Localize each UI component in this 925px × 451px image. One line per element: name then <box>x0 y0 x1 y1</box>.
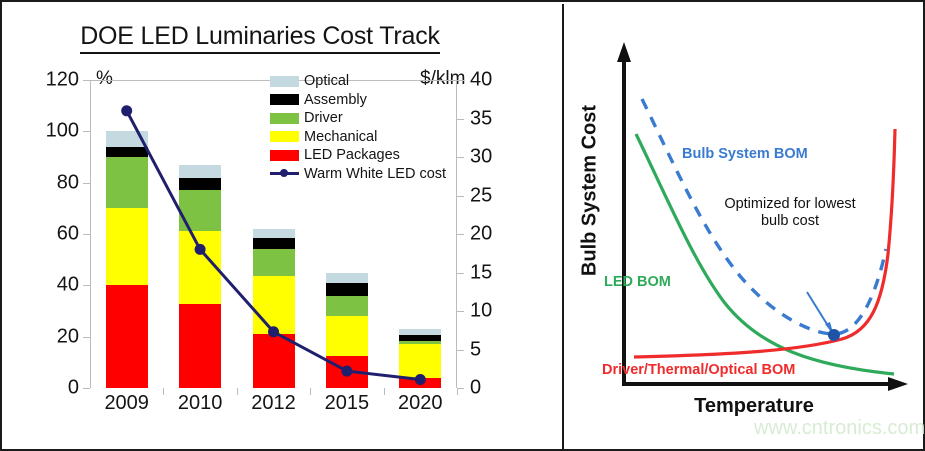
annotation-optimized-lowest-bulb-cost: Optimized for lowest bulb cost <box>710 196 870 230</box>
y-tick-right <box>457 196 464 197</box>
stacked-bar-2012 <box>253 229 295 388</box>
y-tick-left <box>83 388 90 389</box>
legend-label: Optical <box>304 73 349 89</box>
stacked-bar-2015 <box>326 273 368 389</box>
y-tick-left <box>83 80 90 81</box>
bar-segment-assembly <box>399 335 441 340</box>
bar-segment-driver <box>179 190 221 231</box>
legend-swatch-icon <box>270 131 299 142</box>
y-tick-label-left: 80 <box>57 171 79 194</box>
y-tick-left <box>83 183 90 184</box>
y-tick-label-right: 20 <box>470 223 492 246</box>
page-title: DOE LED Luminaries Cost Track <box>50 22 470 51</box>
bar-segment-mechanical <box>326 316 368 356</box>
bar-segment-driver <box>253 249 295 276</box>
legend-label: Mechanical <box>304 129 377 145</box>
figure-root: DOE LED Luminaries Cost Track % $/klm 02… <box>0 0 925 451</box>
stacked-bar-2009 <box>106 131 148 388</box>
bar-segment-mechanical <box>253 276 295 334</box>
y-tick-right <box>457 80 464 81</box>
bar-segment-driver <box>106 157 148 208</box>
bar-segment-mechanical <box>106 208 148 285</box>
y-tick-left <box>83 131 90 132</box>
legend-swatch-icon <box>270 150 299 161</box>
bar-segment-optical <box>326 273 368 283</box>
y-tick-right <box>457 350 464 351</box>
label-led-bom: LED BOM <box>604 274 671 290</box>
curve-led-bom <box>636 134 894 374</box>
y-tick-label-left: 100 <box>46 120 79 143</box>
bar-segment-optical <box>399 329 441 335</box>
legend-swatch-icon <box>270 76 299 87</box>
bar-segment-led-packages <box>106 285 148 388</box>
legend-label: LED Packages <box>304 147 400 163</box>
y-tick-right <box>457 157 464 158</box>
stacked-bar-2010 <box>179 165 221 388</box>
legend-label: Assembly <box>304 92 367 108</box>
y-tick-label-left: 120 <box>46 69 79 92</box>
overlay-point-2009 <box>121 105 132 116</box>
y-tick-right <box>457 273 464 274</box>
bar-segment-assembly <box>179 178 221 191</box>
y-tick-left <box>83 337 90 338</box>
chart-title-text: DOE LED Luminaries Cost Track <box>80 22 440 54</box>
y-tick-label-right: 30 <box>470 146 492 169</box>
label-bulb-system-bom: Bulb System BOM <box>682 146 808 162</box>
x-tick <box>457 388 458 395</box>
right-chart-panel: Bulb System Cost Temperature Bulb <box>562 4 925 449</box>
y-tick-label-left: 20 <box>57 325 79 348</box>
watermark: www.cntronics.com <box>754 417 925 440</box>
y-tick-label-right: 40 <box>470 69 492 92</box>
y-tick-left <box>83 285 90 286</box>
x-tick <box>310 388 311 395</box>
label-driver-thermal-optical-bom: Driver/Thermal/Optical BOM <box>602 362 795 378</box>
legend-item-driver[interactable]: Driver <box>270 109 450 128</box>
x-tick-label: 2020 <box>398 392 443 415</box>
x-tick <box>163 388 164 395</box>
x-tick-label: 2010 <box>178 392 223 415</box>
bar-segment-optical <box>106 131 148 146</box>
y-axis-left <box>90 80 91 388</box>
bar-segment-led-packages <box>326 356 368 388</box>
y-tick-label-left: 60 <box>57 223 79 246</box>
bar-segment-optical <box>179 165 221 178</box>
y-tick-right <box>457 388 464 389</box>
y-tick-right <box>457 234 464 235</box>
bar-segment-mechanical <box>179 231 221 303</box>
legend-item-assembly[interactable]: Assembly <box>270 91 450 110</box>
x-tick-label: 2015 <box>325 392 370 415</box>
y-tick-label-right: 10 <box>470 300 492 323</box>
legend-item-warm-white-led-cost[interactable]: Warm White LED cost <box>270 165 450 184</box>
bar-segment-led-packages <box>179 304 221 388</box>
y-tick-label-left: 0 <box>68 377 79 400</box>
bar-segment-optical <box>253 229 295 238</box>
legend-swatch-icon <box>270 113 299 124</box>
bar-segment-led-packages <box>399 378 441 388</box>
legend-label: Warm White LED cost <box>304 166 446 182</box>
y-tick-right <box>457 311 464 312</box>
x-tick <box>237 388 238 395</box>
legend-line-marker-icon <box>270 168 299 179</box>
bar-segment-assembly <box>106 147 148 157</box>
y-tick-label-right: 25 <box>470 184 492 207</box>
x-tick-label: 2012 <box>251 392 296 415</box>
bar-segment-driver <box>399 341 441 345</box>
y-tick-label-right: 15 <box>470 261 492 284</box>
bar-segment-led-packages <box>253 334 295 388</box>
y-tick-label-right: 35 <box>470 107 492 130</box>
left-chart-panel: DOE LED Luminaries Cost Track % $/klm 02… <box>2 2 547 449</box>
bar-segment-assembly <box>253 238 295 249</box>
y-tick-label-right: 5 <box>470 338 481 361</box>
legend-item-optical[interactable]: Optical <box>270 72 450 91</box>
legend-item-mechanical[interactable]: Mechanical <box>270 128 450 147</box>
legend-label: Driver <box>304 110 343 126</box>
bar-segment-assembly <box>326 283 368 296</box>
bar-segment-mechanical <box>399 344 441 377</box>
y-tick-label-right: 0 <box>470 377 481 400</box>
legend: OpticalAssemblyDriverMechanicalLED Packa… <box>270 72 450 183</box>
legend-item-led-packages[interactable]: LED Packages <box>270 146 450 165</box>
y-tick-left <box>83 234 90 235</box>
y-tick-right <box>457 119 464 120</box>
x-tick <box>384 388 385 395</box>
x-tick-label: 2009 <box>104 392 149 415</box>
y-tick-label-left: 40 <box>57 274 79 297</box>
bar-segment-driver <box>326 296 368 317</box>
stacked-bar-2020 <box>399 329 441 388</box>
legend-swatch-icon <box>270 94 299 105</box>
